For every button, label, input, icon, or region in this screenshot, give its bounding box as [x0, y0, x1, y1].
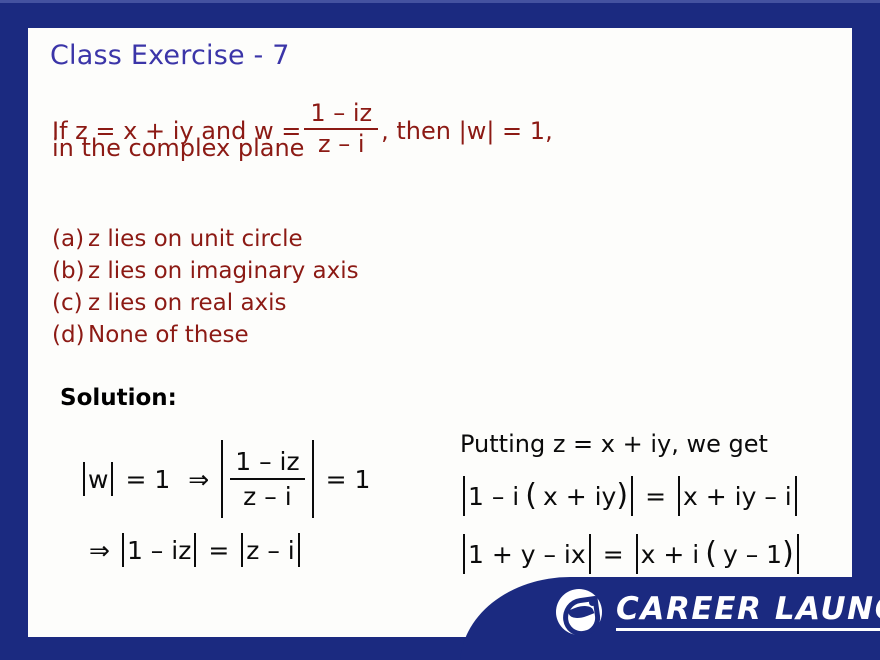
eq3-lhs-a: 1 – i: [468, 482, 519, 511]
option-d-label: None of these: [88, 322, 249, 348]
option-d-tag: (d): [52, 322, 88, 348]
solution-fraction: 1 – iz z – i: [226, 448, 308, 511]
career-launcher-swirl-icon: [556, 589, 602, 635]
eq1-rhs: = 1: [326, 465, 371, 494]
question-fraction: 1 – iz z – i: [304, 101, 378, 158]
solution-equation-2: ⇒ 1 – iz = z – i: [80, 533, 303, 567]
eq4-equals: =: [603, 540, 624, 569]
abs-w-content: w: [88, 462, 108, 496]
solution-fraction-bar: [230, 478, 304, 480]
abs-eq2-lhs: 1 – iz: [119, 533, 199, 567]
option-c[interactable]: (c)z lies on real axis: [52, 290, 287, 316]
abs-fraction: 1 – iz z – i: [218, 440, 316, 518]
abs-bar-left: [122, 533, 124, 567]
abs-bar-right: [312, 440, 314, 518]
question-text-part2: , then |w| = 1,: [381, 117, 553, 145]
option-b-tag: (b): [52, 258, 88, 284]
option-b-label: z lies on imaginary axis: [88, 258, 359, 284]
abs-bar-left: [83, 462, 85, 496]
eq1-equals-one: = 1: [125, 465, 170, 494]
solution-fraction-denominator: z – i: [230, 483, 304, 511]
abs-bar-right: [795, 476, 797, 516]
abs-bar-left: [636, 534, 638, 574]
eq2-equals: =: [208, 536, 229, 565]
abs-eq3-lhs: 1 – i ( x + iy ): [460, 476, 636, 516]
abs-eq2-rhs-content: z – i: [246, 533, 294, 567]
eq1-implies-arrow: ⇒: [188, 465, 209, 494]
abs-eq4-lhs: 1 + y – ix: [460, 534, 594, 574]
abs-eq3-lhs-content: 1 – i ( x + iy ): [468, 476, 628, 516]
swirl-dot-shape: [589, 599, 596, 606]
eq4-rhs-a: x + i: [641, 540, 700, 569]
abs-eq4-rhs: x + i ( y – 1 ): [633, 534, 802, 574]
option-c-label: z lies on real axis: [88, 290, 287, 316]
abs-bar-right: [298, 533, 300, 567]
abs-eq3-rhs-content: x + iy – i: [683, 476, 792, 516]
content-panel: Class Exercise - 7 If z = x + iy and w =…: [28, 28, 852, 637]
abs-eq3-rhs: x + iy – i: [675, 476, 800, 516]
question-line-2: in the complex plane: [52, 134, 304, 162]
abs-bar-left: [678, 476, 680, 516]
question-fraction-denominator: z – i: [304, 132, 378, 157]
abs-bar-left: [463, 534, 465, 574]
abs-bar-left: [221, 440, 223, 518]
solution-equation-1: w = 1 ⇒ 1 – iz z – i = 1: [80, 440, 379, 518]
abs-eq2-rhs: z – i: [238, 533, 302, 567]
eq3-equals: =: [645, 482, 666, 511]
abs-bar-right: [194, 533, 196, 567]
abs-bar-right: [589, 534, 591, 574]
putting-substitution-text: Putting z = x + iy, we get: [460, 430, 768, 458]
solution-fraction-numerator: 1 – iz: [230, 448, 304, 476]
abs-eq2-lhs-content: 1 – iz: [127, 533, 191, 567]
abs-w: w: [80, 462, 116, 496]
abs-bar-right: [111, 462, 113, 496]
option-c-tag: (c): [52, 290, 88, 316]
eq4-rhs-b: y – 1: [723, 540, 782, 569]
top-hairline: [0, 0, 880, 3]
question-fraction-numerator: 1 – iz: [304, 101, 378, 126]
option-d[interactable]: (d)None of these: [52, 322, 249, 348]
abs-bar-left: [463, 476, 465, 516]
eq2-implies-arrow: ⇒: [89, 536, 110, 565]
option-a[interactable]: (a)z lies on unit circle: [52, 226, 303, 252]
abs-fraction-content: 1 – iz z – i: [226, 440, 308, 518]
eq4-paren-open: (: [705, 539, 717, 569]
eq3-paren-close: ): [616, 481, 628, 511]
solution-equation-4: 1 + y – ix = x + i ( y – 1 ): [460, 534, 802, 574]
abs-eq4-rhs-content: x + i ( y – 1 ): [641, 534, 794, 574]
option-a-label: z lies on unit circle: [88, 226, 303, 252]
page-title: Class Exercise - 7: [50, 40, 290, 71]
solution-label: Solution:: [60, 385, 177, 411]
brand-logo: CAREER LAUNCHER: [556, 589, 880, 635]
abs-bar-right: [797, 534, 799, 574]
eq4-paren-close: ): [782, 539, 794, 569]
slide-canvas: Class Exercise - 7 If z = x + iy and w =…: [0, 0, 880, 660]
eq3-paren-open: (: [525, 481, 537, 511]
brand-name: CAREER LAUNCHER: [616, 593, 880, 632]
abs-bar-right: [631, 476, 633, 516]
eq3-lhs-b: x + iy: [543, 482, 616, 511]
abs-bar-left: [241, 533, 243, 567]
option-b[interactable]: (b)z lies on imaginary axis: [52, 258, 359, 284]
solution-equation-3: 1 – i ( x + iy ) = x + iy – i: [460, 476, 800, 516]
abs-eq4-lhs-content: 1 + y – ix: [468, 534, 586, 574]
option-a-tag: (a): [52, 226, 88, 252]
